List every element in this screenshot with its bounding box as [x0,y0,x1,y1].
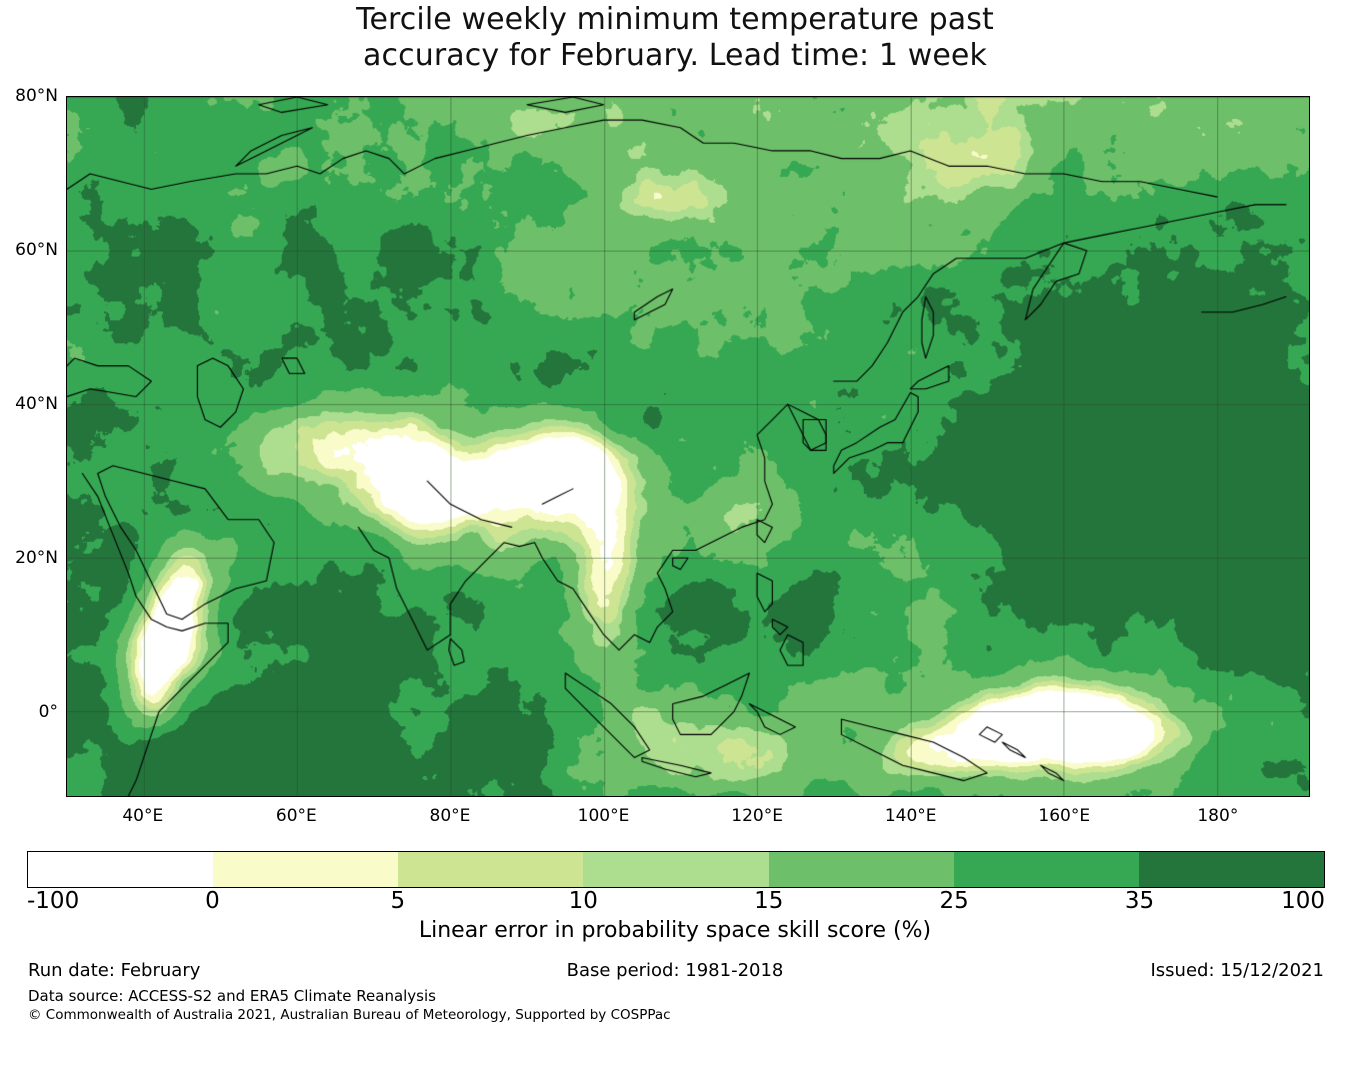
y-axis-tick-20: 20°N [0,548,58,568]
colorbar-tick-35: 35 [1125,888,1154,914]
colorbar-tick--100: -100 [27,888,79,914]
y-axis-tick-0: 0° [0,702,58,722]
skill-score-heatmap [67,97,1309,796]
colorbar [27,851,1325,888]
x-axis-tick-160: 160°E [1038,806,1090,826]
footer-data-source: Data source: ACCESS-S2 and ERA5 Climate … [28,987,436,1005]
map-plot-area [66,96,1310,797]
colorbar-segment-3 [583,852,768,887]
x-axis-tick-120: 120°E [731,806,783,826]
footer-issued-date: Issued: 15/12/2021 [1150,960,1324,981]
figure-title-line-1: Tercile weekly minimum temperature past [0,2,1350,38]
colorbar-segment-6 [1139,852,1324,887]
colorbar-gradient [27,851,1325,888]
colorbar-axis-label: Linear error in probability space skill … [0,918,1350,943]
y-axis-tick-80: 80°N [0,86,58,106]
colorbar-segment-5 [954,852,1139,887]
figure-title-line-2: accuracy for February. Lead time: 1 week [0,38,1350,74]
x-axis-tick-40: 40°E [122,806,163,826]
footer-copyright: © Commonwealth of Australia 2021, Austra… [28,1007,671,1023]
colorbar-tick-15: 15 [754,888,783,914]
footer-row-primary: Run date: February Base period: 1981-201… [0,960,1350,982]
footer-row-source: Data source: ACCESS-S2 and ERA5 Climate … [0,987,1350,1009]
figure-root: Tercile weekly minimum temperature past … [0,0,1350,1065]
footer-row-copyright: © Commonwealth of Australia 2021, Austra… [0,1007,1350,1029]
x-axis-tick-100: 100°E [578,806,630,826]
colorbar-segment-2 [398,852,583,887]
x-axis-tick-80: 80°E [430,806,471,826]
x-axis-tick-180: 180° [1197,806,1238,826]
figure-title: Tercile weekly minimum temperature past … [0,2,1350,74]
colorbar-segment-0 [28,852,213,887]
x-axis-tick-140: 140°E [885,806,937,826]
colorbar-segment-1 [213,852,398,887]
y-axis-tick-40: 40°N [0,394,58,414]
y-axis-tick-60: 60°N [0,240,58,260]
colorbar-tick-10: 10 [569,888,598,914]
colorbar-segment-4 [769,852,954,887]
x-axis-tick-60: 60°E [276,806,317,826]
colorbar-tick-100: 100 [1281,888,1325,914]
colorbar-tick-5: 5 [391,888,406,914]
colorbar-tick-0: 0 [205,888,220,914]
footer-base-period: Base period: 1981-2018 [0,960,1350,981]
colorbar-tick-25: 25 [940,888,969,914]
colorbar-tick-labels: -1000510152535100 [0,888,1350,918]
